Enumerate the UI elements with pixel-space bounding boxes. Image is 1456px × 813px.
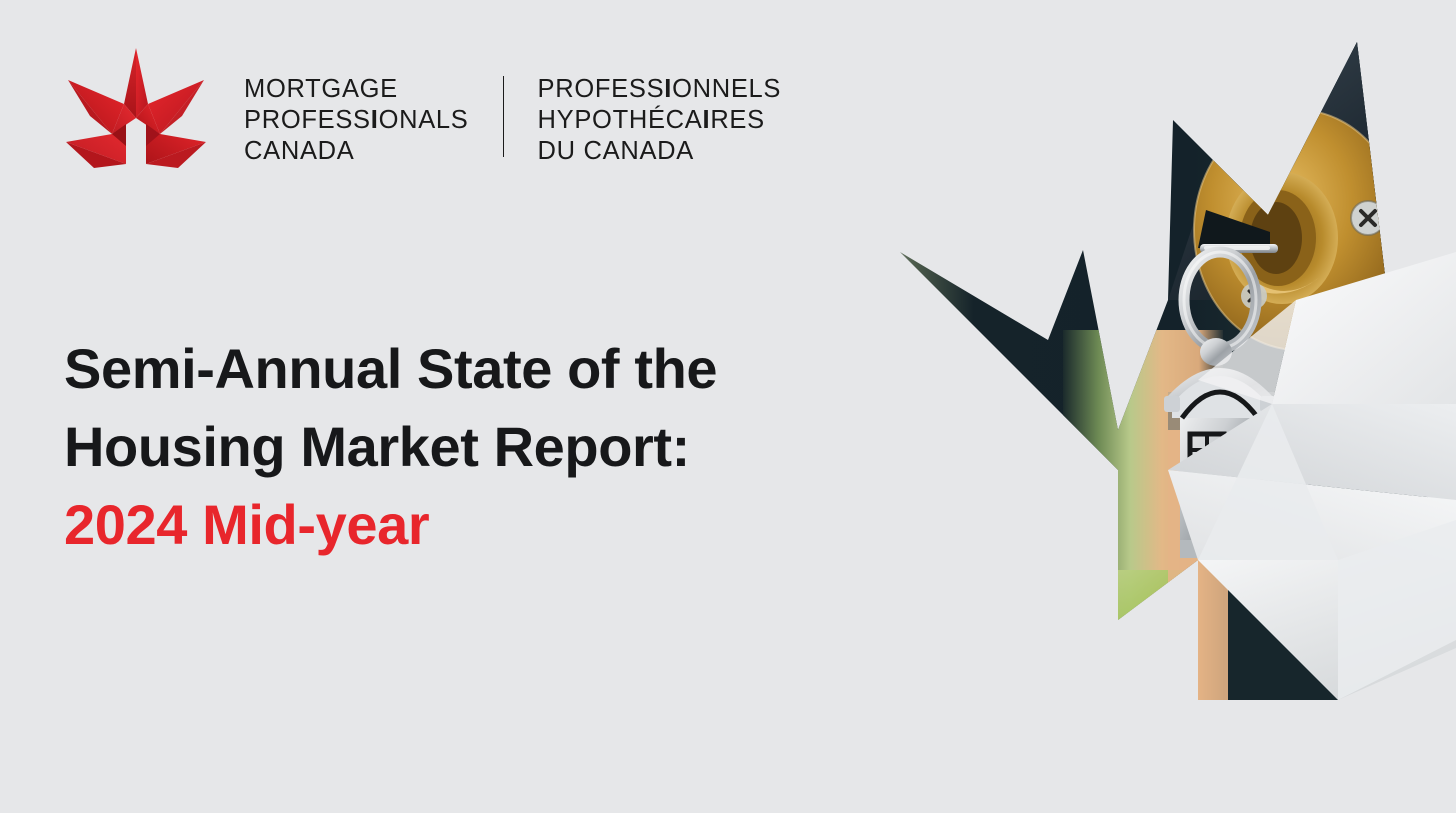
wordmark-fr-line3: DU CANADA — [538, 137, 695, 165]
wordmark-french: PROFESSIONNELS HYPOTHÉCAIRES DU CANADA — [538, 74, 782, 167]
wordmark-en-line2-emphasis: I — [371, 106, 379, 134]
wordmark-fr-line1-after: ONNELS — [672, 75, 781, 103]
title-line-3-edition: 2024 Mid-year — [64, 486, 824, 564]
hero-artwork — [868, 0, 1456, 813]
title-line-1: Semi-Annual State of the — [64, 330, 824, 408]
wordmark-divider — [503, 76, 504, 157]
maple-leaf-icon — [64, 46, 208, 171]
wordmark-en-line3: CANADA — [244, 137, 354, 165]
wordmark-en-line2-before: PROFESS — [244, 106, 371, 134]
wordmark-fr-line1-before: PROFESS — [538, 75, 665, 103]
report-cover: MORTGAGE PROFESSIONALS CANADA PROFESSION… — [0, 0, 1456, 813]
page-title: Semi-Annual State of the Housing Market … — [64, 330, 824, 564]
wordmark-en-line1: MORTGAGE — [244, 75, 398, 103]
title-line-2: Housing Market Report: — [64, 408, 824, 486]
wordmark-fr-line2-before: HYPOTHÉCA — [538, 106, 703, 134]
brand-wordmarks: MORTGAGE PROFESSIONALS CANADA PROFESSION… — [244, 46, 781, 167]
brand-logo-lockup: MORTGAGE PROFESSIONALS CANADA PROFESSION… — [64, 46, 781, 171]
wordmark-en-line2-after: ONALS — [379, 106, 469, 134]
wordmark-english: MORTGAGE PROFESSIONALS CANADA — [244, 74, 469, 167]
wordmark-fr-line2-after: RES — [710, 106, 765, 134]
maple-leaf-photo-mask — [868, 0, 1456, 813]
wordmark-fr-line1-emphasis: I — [664, 75, 672, 103]
